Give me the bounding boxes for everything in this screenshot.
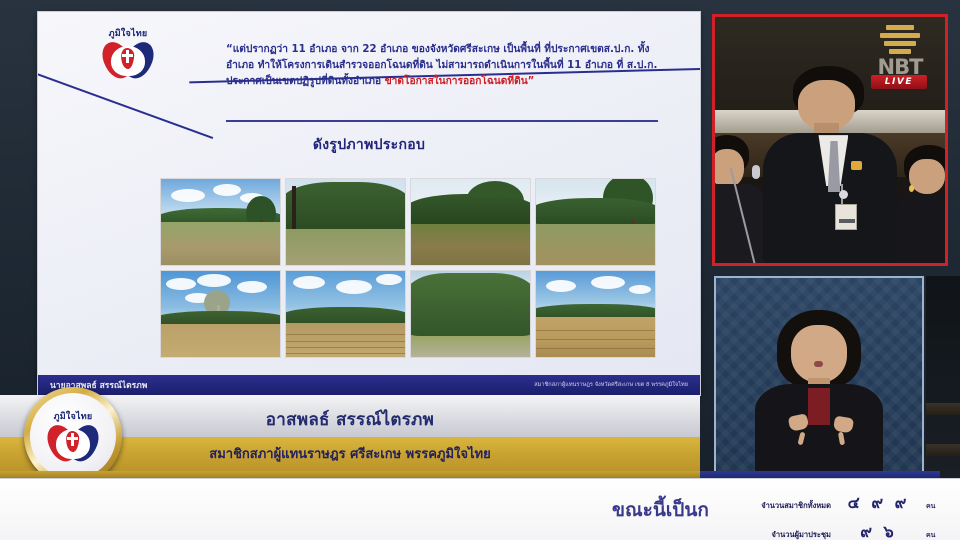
party-heart-icon	[104, 41, 152, 81]
session-status-text: ขณะนี้เป็นก	[612, 495, 709, 525]
photo-thumbnail	[410, 270, 531, 358]
photo-thumbnail	[160, 178, 281, 266]
stat-value: ๔ ๙ ๙	[831, 491, 926, 516]
party-badge-text: ภูมิใจไทย	[37, 409, 109, 423]
photo-thumbnail	[535, 270, 656, 358]
party-logo-text: ภูมิใจไทย	[90, 26, 166, 40]
stat-value: ๙ ๖	[831, 520, 926, 540]
microphone-icon	[752, 165, 760, 179]
attendance-stats: จำนวนสมาชิกทั้งหมด ๔ ๙ ๙ คน จำนวนผู้มาปร…	[735, 491, 950, 540]
photo-grid	[160, 178, 656, 358]
photo-thumbnail	[160, 270, 281, 358]
stat-label: จำนวนสมาชิกทั้งหมด	[735, 500, 831, 512]
slide-caption: ดังรูปภาพประกอบ	[38, 134, 700, 156]
channel-logo: NBT	[869, 25, 931, 78]
stat-row: จำนวนสมาชิกทั้งหมด ๔ ๙ ๙ คน	[735, 491, 950, 516]
photo-thumbnail	[285, 270, 406, 358]
lower-third-overlay: อาสพลธ์ สรรณ์ไตรภพ สมาชิกสภาผู้แทนราษฎร …	[0, 395, 700, 475]
party-logo-slide: ภูมิใจไทย	[90, 26, 166, 81]
speaking-member	[779, 66, 894, 263]
presentation-slide: ภูมิใจไทย “แต่ปรากฏว่า 11 อำเภอ จาก 22 อ…	[38, 12, 700, 395]
stat-unit: คน	[926, 530, 950, 540]
stat-row: จำนวนผู้มาประชุม ๙ ๖ คน	[735, 520, 950, 540]
bottom-status-strip: ขณะนี้เป็นก จำนวนสมาชิกทั้งหมด ๔ ๙ ๙ คน …	[0, 478, 960, 540]
slide-footer-bar: นายอาสพลธ์ สรรณ์ไตรภพ สมาชิกสภาผู้แทนราษ…	[38, 375, 700, 395]
sign-language-interpreter	[772, 310, 867, 479]
slide-footer-role: สมาชิกสภาผู้แทนราษฎร จังหวัดศรีสะเกษ เขต…	[534, 381, 688, 389]
photo-thumbnail	[535, 178, 656, 266]
live-badge: LIVE	[871, 75, 927, 89]
stat-label: จำนวนผู้มาประชุม	[735, 529, 831, 540]
sign-language-interpreter-video	[714, 276, 924, 481]
slide-quote: “แต่ปรากฏว่า 11 อำเภอ จาก 22 อำเภอ ของจั…	[226, 42, 658, 89]
photo-thumbnail	[285, 178, 406, 266]
party-heart-icon	[49, 424, 97, 464]
studio-side-panel	[926, 276, 960, 481]
live-video-speaker: NBT LIVE	[712, 14, 948, 266]
slide-quote-highlight: ขาดโอกาสในการออกโฉนดที่ดิน”	[385, 76, 535, 87]
photo-thumbnail	[410, 178, 531, 266]
seated-person-right	[899, 145, 948, 263]
stat-unit: คน	[926, 501, 950, 512]
party-logo-badge: ภูมิใจไทย	[37, 409, 109, 464]
slide-divider	[226, 120, 658, 122]
